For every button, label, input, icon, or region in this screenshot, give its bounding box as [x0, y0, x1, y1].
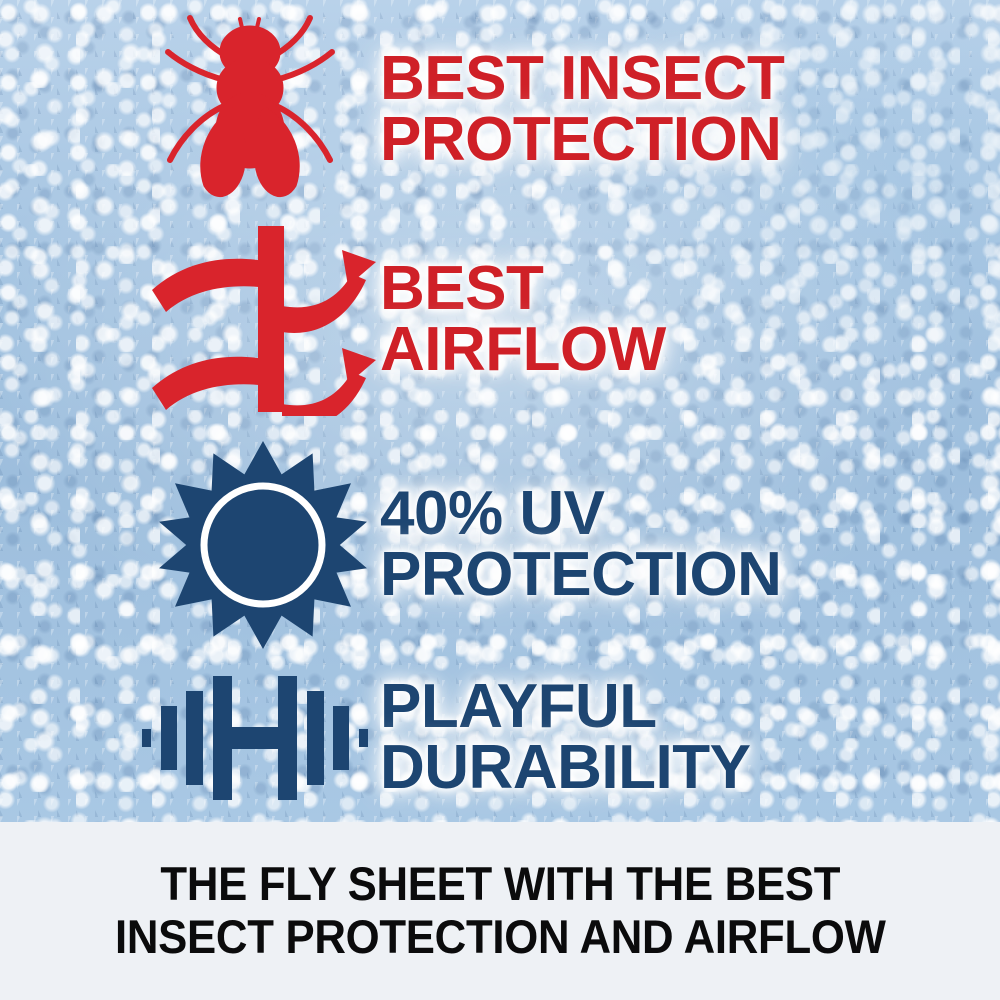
feature-row-uv-protection: 40% UV PROTECTION [130, 438, 990, 652]
fly-icon-graphic [130, 10, 380, 210]
sun-uv-icon [130, 438, 380, 652]
feature-label-insect-protection: BEST INSECT PROTECTION [380, 49, 784, 171]
airflow-through-barrier-icon [130, 220, 380, 420]
fly-icon [130, 10, 380, 210]
caption-bar: THE FLY SHEET WITH THE BEST INSECT PROTE… [0, 822, 1000, 1000]
dumbbell-icon [130, 655, 380, 820]
feature-label-airflow: BEST AIRFLOW [380, 259, 666, 381]
feature-row-durability: PLAYFUL DURABILITY [130, 655, 990, 820]
sun-uv-icon-graphic [130, 438, 380, 652]
feature-row-insect-protection: BEST INSECT PROTECTION [130, 10, 990, 210]
feature-label-durability: PLAYFUL DURABILITY [380, 677, 750, 799]
caption-text: THE FLY SHEET WITH THE BEST INSECT PROTE… [115, 858, 886, 963]
feature-label-uv-protection: 40% UV PROTECTION [380, 484, 781, 606]
feature-row-airflow: BEST AIRFLOW [130, 222, 990, 418]
product-feature-poster: BEST INSECT PROTECTION [0, 0, 1000, 1000]
airflow-icon-graphic [130, 220, 380, 416]
dumbbell-icon-graphic [130, 655, 380, 820]
